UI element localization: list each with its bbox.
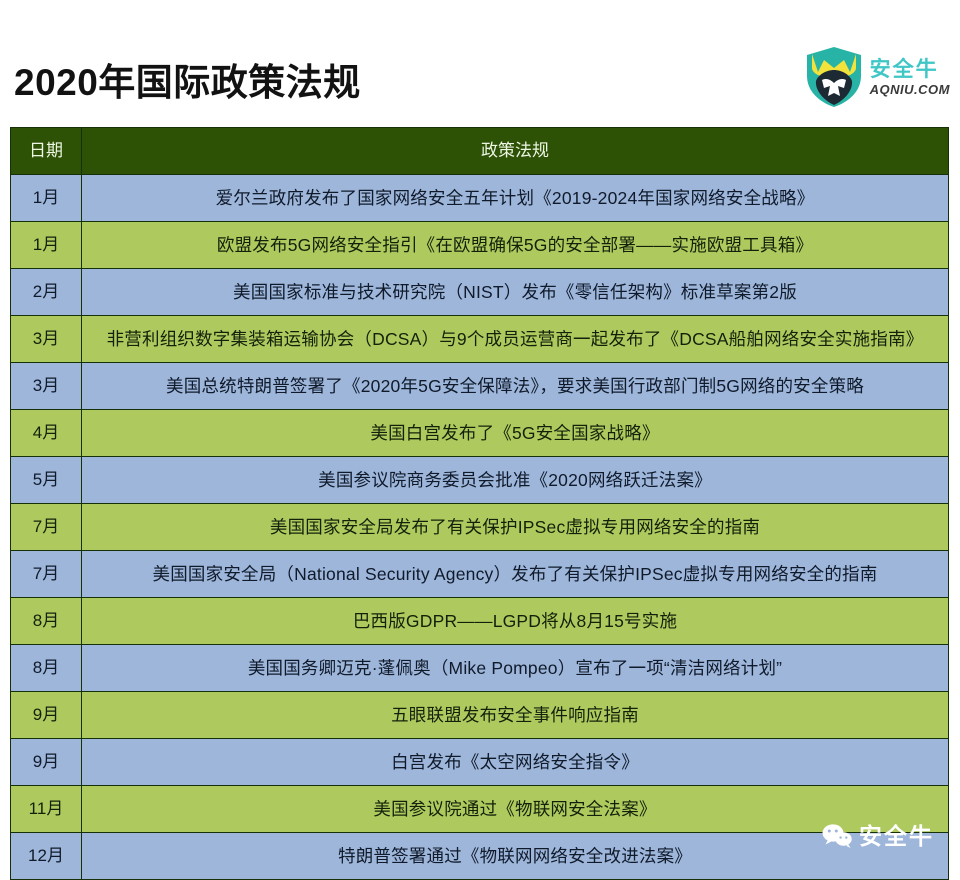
- cell-policy: 爱尔兰政府发布了国家网络安全五年计划《2019-2024年国家网络安全战略》: [82, 175, 949, 222]
- brand-logo: 安全牛 AQNIU.COM: [804, 44, 950, 110]
- table-row: 12月特朗普签署通过《物联网网络安全改进法案》: [11, 833, 949, 880]
- table-row: 8月巴西版GDPR——LGPD将从8月15号实施: [11, 598, 949, 645]
- shield-bull-icon: [804, 46, 864, 108]
- column-header-date: 日期: [11, 128, 82, 175]
- cell-policy: 美国国家标准与技术研究院（NIST）发布《零信任架构》标准草案第2版: [82, 269, 949, 316]
- policy-regulations-table: 日期 政策法规 1月爱尔兰政府发布了国家网络安全五年计划《2019-2024年国…: [10, 127, 949, 880]
- table-row: 9月白宫发布《太空网络安全指令》: [11, 739, 949, 786]
- table-row: 7月美国国家安全局（National Security Agency）发布了有关…: [11, 551, 949, 598]
- cell-date: 5月: [11, 457, 82, 504]
- cell-policy: 美国国家安全局发布了有关保护IPSec虚拟专用网络安全的指南: [82, 504, 949, 551]
- cell-date: 11月: [11, 786, 82, 833]
- table-row: 2月美国国家标准与技术研究院（NIST）发布《零信任架构》标准草案第2版: [11, 269, 949, 316]
- cell-policy: 特朗普签署通过《物联网网络安全改进法案》: [82, 833, 949, 880]
- cell-date: 1月: [11, 175, 82, 222]
- cell-policy: 白宫发布《太空网络安全指令》: [82, 739, 949, 786]
- table-row: 3月美国总统特朗普签署了《2020年5G安全保障法》，要求美国行政部门制5G网络…: [11, 363, 949, 410]
- cell-date: 9月: [11, 739, 82, 786]
- cell-policy: 非营利组织数字集装箱运输协会（DCSA）与9个成员运营商一起发布了《DCSA船舶…: [82, 316, 949, 363]
- table-row: 3月非营利组织数字集装箱运输协会（DCSA）与9个成员运营商一起发布了《DCSA…: [11, 316, 949, 363]
- table-header: 日期 政策法规: [11, 128, 949, 175]
- cell-date: 3月: [11, 316, 82, 363]
- cell-policy: 美国白宫发布了《5G安全国家战略》: [82, 410, 949, 457]
- brand-name-cn: 安全牛: [870, 59, 950, 80]
- cell-date: 3月: [11, 363, 82, 410]
- cell-date: 1月: [11, 222, 82, 269]
- cell-policy: 美国参议院商务委员会批准《2020网络跃迁法案》: [82, 457, 949, 504]
- page-header: 2020年国际政策法规 安全牛 AQNIU.COM: [0, 0, 960, 127]
- table-row: 8月美国国务卿迈克·蓬佩奥（Mike Pompeo）宣布了一项“清洁网络计划”: [11, 645, 949, 692]
- column-header-policy: 政策法规: [82, 128, 949, 175]
- cell-date: 7月: [11, 504, 82, 551]
- cell-policy: 巴西版GDPR——LGPD将从8月15号实施: [82, 598, 949, 645]
- cell-date: 8月: [11, 645, 82, 692]
- table-body: 1月爱尔兰政府发布了国家网络安全五年计划《2019-2024年国家网络安全战略》…: [11, 175, 949, 880]
- table-row: 5月美国参议院商务委员会批准《2020网络跃迁法案》: [11, 457, 949, 504]
- table-row: 1月欧盟发布5G网络安全指引《在欧盟确保5G的安全部署——实施欧盟工具箱》: [11, 222, 949, 269]
- table-row: 1月爱尔兰政府发布了国家网络安全五年计划《2019-2024年国家网络安全战略》: [11, 175, 949, 222]
- cell-policy: 美国总统特朗普签署了《2020年5G安全保障法》，要求美国行政部门制5G网络的安…: [82, 363, 949, 410]
- cell-date: 4月: [11, 410, 82, 457]
- cell-policy: 美国国家安全局（National Security Agency）发布了有关保护…: [82, 551, 949, 598]
- cell-policy: 欧盟发布5G网络安全指引《在欧盟确保5G的安全部署——实施欧盟工具箱》: [82, 222, 949, 269]
- table-row: 9月五眼联盟发布安全事件响应指南: [11, 692, 949, 739]
- cell-policy: 五眼联盟发布安全事件响应指南: [82, 692, 949, 739]
- cell-date: 12月: [11, 833, 82, 880]
- table-row: 4月美国白宫发布了《5G安全国家战略》: [11, 410, 949, 457]
- brand-wordmark: 安全牛 AQNIU.COM: [870, 59, 950, 96]
- cell-date: 9月: [11, 692, 82, 739]
- table-row: 11月美国参议院通过《物联网安全法案》: [11, 786, 949, 833]
- cell-policy: 美国国务卿迈克·蓬佩奥（Mike Pompeo）宣布了一项“清洁网络计划”: [82, 645, 949, 692]
- cell-date: 7月: [11, 551, 82, 598]
- table-header-row: 日期 政策法规: [11, 128, 949, 175]
- cell-date: 2月: [11, 269, 82, 316]
- table-row: 7月美国国家安全局发布了有关保护IPSec虚拟专用网络安全的指南: [11, 504, 949, 551]
- cell-policy: 美国参议院通过《物联网安全法案》: [82, 786, 949, 833]
- page-title: 2020年国际政策法规: [14, 64, 361, 101]
- brand-name-en: AQNIU.COM: [870, 83, 950, 96]
- cell-date: 8月: [11, 598, 82, 645]
